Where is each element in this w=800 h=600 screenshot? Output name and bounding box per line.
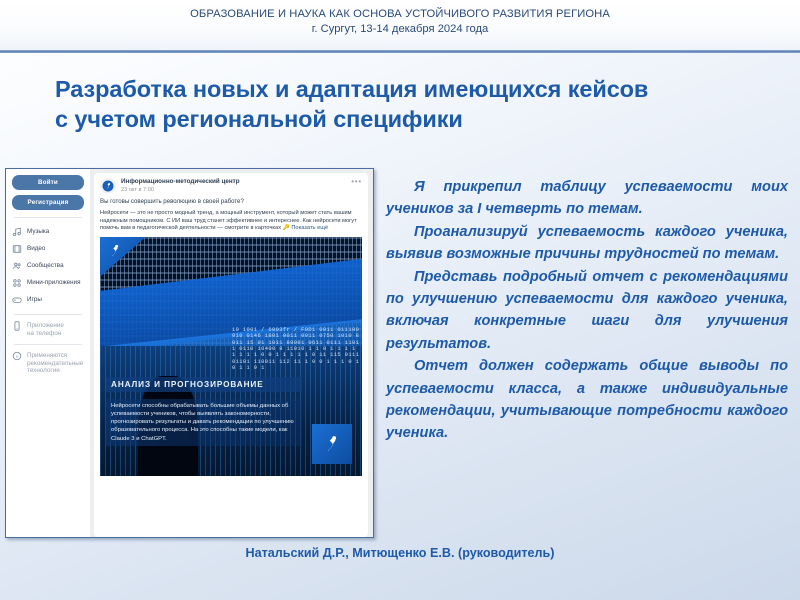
imc-logo-icon [319,431,345,457]
sidebar-item-video[interactable]: Видео [12,241,84,256]
post-author-name[interactable]: Информационно-методический центр [121,178,346,186]
music-note-icon [12,227,22,237]
vk-sidebar: Войти Регистрация Музыка Видео Сообществ… [6,169,90,537]
communities-icon [12,261,22,271]
post-author-block: Информационно-методический центр 23 окт … [121,178,346,194]
sidebar-item-music[interactable]: Музыка [12,224,84,239]
authors-line: Натальский Д.Р., Митющенко Е.В. (руковод… [0,546,800,560]
post-question: Вы готовы совершить революцию в своей ра… [100,198,362,206]
show-more-link[interactable]: Показать ещё [291,225,328,231]
page-title-line-2: с учетом региональной специфики [55,104,755,134]
conference-title: ОБРАЗОВАНИЕ И НАУКА КАК ОСНОВА УСТОЙЧИВО… [0,0,800,20]
phone-icon [12,321,22,331]
video-icon [12,244,22,254]
header-divider [0,50,800,53]
page-title: Разработка новых и адаптация имеющихся к… [55,74,755,134]
imc-logo-icon [102,180,114,192]
sidebar-item-label: Приложение на телефон [27,321,64,337]
image-card-title: АНАЛИЗ И ПРОГНОЗИРОВАНИЕ [106,377,302,392]
key-icon: 🔑 [283,225,290,231]
conference-header: ОБРАЗОВАНИЕ И НАУКА КАК ОСНОВА УСТОЙЧИВО… [0,0,800,52]
sidebar-item-label: Сообщества [27,262,64,269]
post-menu-icon[interactable]: ••• [351,178,362,186]
sidebar-item-label: Музыка [27,228,49,235]
register-button[interactable]: Регистрация [12,195,84,210]
sidebar-item-label: Применяются рекомендательные технологии [27,351,83,375]
sidebar-item-mini-apps[interactable]: Мини-приложения [12,275,84,290]
prompt-paragraph-1: Я прикрепил таблицу успеваемости моих уч… [386,176,788,221]
login-button[interactable]: Войти [12,175,84,190]
page-title-line-1: Разработка новых и адаптация имеющихся к… [55,74,755,104]
vk-feed: Информационно-методический центр 23 окт … [90,169,373,537]
mini-apps-icon [12,278,22,288]
avatar[interactable] [100,178,116,194]
post-attached-image[interactable]: 10 1001 / 6003fr / F0D1 0011 011100010 0… [100,237,362,476]
prompt-text-block: Я прикрепил таблицу успеваемости моих уч… [386,176,788,445]
vk-post: Информационно-методический центр 23 окт … [94,173,368,537]
sidebar-item-recommendation-tech[interactable]: Применяются рекомендательные технологии [12,351,84,375]
sidebar-item-communities[interactable]: Сообщества [12,258,84,273]
info-icon [12,351,22,361]
sidebar-item-label: Видео [27,245,45,252]
post-timestamp: 23 окт в 7:00 [121,186,346,194]
conference-place-date: г. Сургут, 13-14 декабря 2024 года [0,20,800,35]
image-card-logo [312,424,352,464]
sidebar-divider-3 [14,344,82,345]
sidebar-item-mobile-app[interactable]: Приложение на телефон [12,321,84,337]
sidebar-divider-1 [14,217,82,218]
post-header: Информационно-методический центр 23 окт … [100,178,362,194]
image-card-text: Нейросети способны обрабатывать большие … [106,399,302,446]
sidebar-item-label: Мини-приложения [27,279,81,286]
prompt-paragraph-2: Проанализируй успеваемость каждого учени… [386,221,788,266]
sidebar-item-label: Игры [27,296,42,303]
vk-screenshot-panel: Войти Регистрация Музыка Видео Сообществ… [5,168,374,538]
gamepad-icon [12,295,22,305]
sidebar-divider-2 [14,314,82,315]
sidebar-item-games[interactable]: Игры [12,292,84,307]
prompt-paragraph-3: Представь подробный отчет с рекомендация… [386,266,788,356]
prompt-paragraph-4: Отчет должен содержать общие выводы по у… [386,355,788,445]
post-text: Нейросети — это не просто модный тренд, … [100,210,362,233]
